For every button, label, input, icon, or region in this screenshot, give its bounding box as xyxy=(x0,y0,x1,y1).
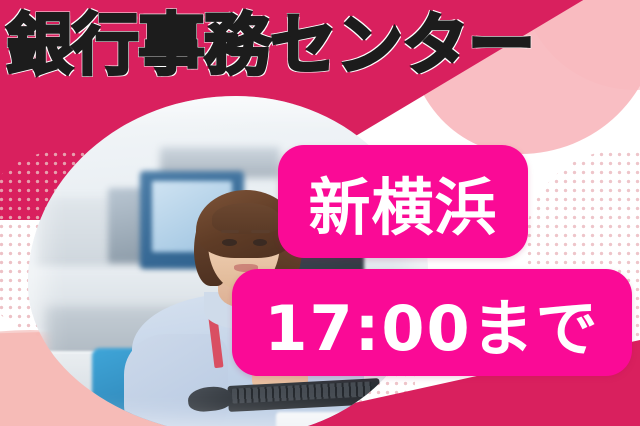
job-ad-banner: 銀行事務センター 新横浜 17:00まで xyxy=(0,0,640,426)
location-badge: 新横浜 xyxy=(278,145,528,258)
banner-headline: 銀行事務センター xyxy=(6,12,640,79)
working-hours-badge: 17:00まで xyxy=(232,269,632,376)
